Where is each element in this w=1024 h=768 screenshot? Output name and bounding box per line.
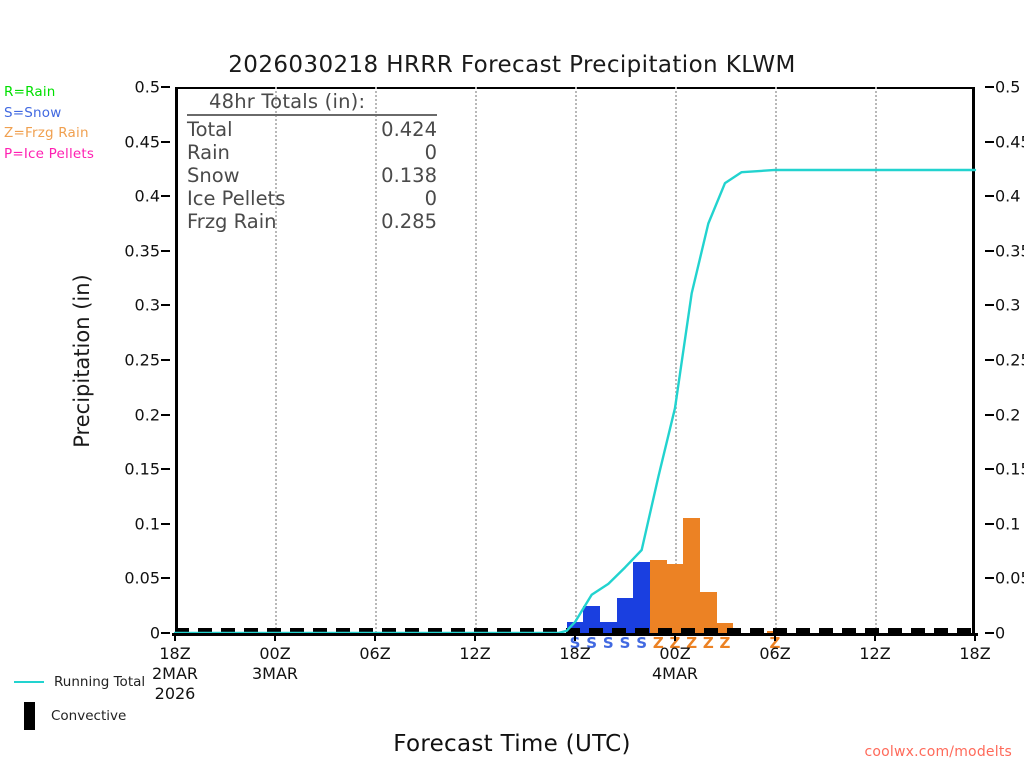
watermark: coolwx.com/modelts (0, 744, 1012, 760)
totals-row-label: Frzg Rain (187, 210, 276, 233)
totals-row-value: 0 (425, 187, 437, 210)
y-tick-left-mark (161, 304, 170, 306)
y-tick-right-mark (985, 304, 994, 306)
totals-row-value: 0.285 (381, 210, 437, 233)
totals-rows: Total0.424Rain0Snow0.138Ice Pellets0Frzg… (187, 118, 437, 233)
x-tick-time: 12Z (859, 644, 890, 663)
y-tick-left-label: 0.5 (135, 78, 160, 97)
y-tick-right-mark (985, 632, 994, 634)
y-tick-left-label: 0.25 (124, 351, 160, 370)
x-tick-label: 00Z4MAR (652, 644, 698, 684)
x-tick-label: 06Z (359, 644, 390, 664)
y-tick-right-label: 0.05 (995, 569, 1024, 588)
y-tick-left-label: 0.35 (124, 241, 160, 260)
chart-title: 2026030218 HRRR Forecast Precipitation K… (0, 52, 1024, 78)
y-tick-right-label: 0.3 (995, 296, 1020, 315)
x-tick-time: 00Z (659, 644, 690, 663)
y-tick-left-label: 0.15 (124, 460, 160, 479)
y-axis-right: 00.050.10.150.20.250.30.350.40.450.5 (985, 87, 1024, 633)
y-tick-right-label: 0.45 (995, 132, 1024, 151)
totals-row-label: Snow (187, 164, 240, 187)
x-axis-ticks: 18Z2MAR202600Z3MAR06Z12Z18Z00Z4MAR06Z12Z… (175, 633, 975, 733)
legend-snow: S=Snow (4, 103, 94, 124)
totals-row-label: Total (187, 118, 233, 141)
y-tick-left-label: 0.4 (135, 187, 160, 206)
legend-rain: R=Rain (4, 82, 94, 103)
x-tick-mark (474, 633, 476, 641)
y-tick-right-mark (985, 86, 994, 88)
y-tick-right-mark (985, 577, 994, 579)
y-tick-right-label: 0.4 (995, 187, 1020, 206)
y-tick-right-mark (985, 468, 994, 470)
totals-row-label: Rain (187, 141, 230, 164)
y-tick-left-label: 0.05 (124, 569, 160, 588)
y-tick-right-label: 0.35 (995, 241, 1024, 260)
totals-row: Frzg Rain0.285 (187, 210, 437, 233)
precip-type-legend: R=Rain S=Snow Z=Frzg Rain P=Ice Pellets (4, 82, 94, 164)
legend-ice-pellets: P=Ice Pellets (4, 144, 94, 165)
x-tick-label: 00Z3MAR (252, 644, 298, 684)
chart-canvas: 2026030218 HRRR Forecast Precipitation K… (0, 0, 1024, 768)
x-tick-mark (374, 633, 376, 641)
y-tick-left-mark (161, 523, 170, 525)
legend-convective-label: Convective (51, 708, 126, 724)
y-tick-right-label: 0.1 (995, 514, 1020, 533)
x-tick-time: 18Z (959, 644, 990, 663)
legend-convective: Convective (10, 699, 180, 733)
y-tick-left-mark (161, 414, 170, 416)
totals-panel: 48hr Totals (in): Total0.424Rain0Snow0.1… (187, 90, 437, 233)
x-tick-date: 3MAR (252, 664, 298, 684)
y-tick-right-label: 0.5 (995, 78, 1020, 97)
x-tick-time: 12Z (459, 644, 490, 663)
x-tick-time: 00Z (259, 644, 290, 663)
running-total-line-icon (14, 681, 44, 683)
convective-bar-icon (24, 702, 35, 730)
totals-row-value: 0 (425, 141, 437, 164)
x-tick-mark (874, 633, 876, 641)
x-tick-mark (974, 633, 976, 641)
y-tick-left-label: 0 (150, 624, 160, 643)
x-tick-mark (574, 633, 576, 641)
y-tick-left-mark (161, 577, 170, 579)
x-tick-label: 12Z (459, 644, 490, 664)
y-tick-left-mark (161, 468, 170, 470)
x-tick-time: 18Z (559, 644, 590, 663)
totals-row: Rain0 (187, 141, 437, 164)
y-tick-left-mark (161, 632, 170, 634)
y-tick-right-mark (985, 523, 994, 525)
totals-header: 48hr Totals (in): (187, 90, 437, 116)
y-tick-right-mark (985, 250, 994, 252)
x-tick-mark (774, 633, 776, 641)
y-tick-right-mark (985, 141, 994, 143)
y-tick-right-label: 0.15 (995, 460, 1024, 479)
series-legend: Running Total Convective (10, 665, 180, 733)
y-tick-right-mark (985, 359, 994, 361)
x-tick-mark (274, 633, 276, 641)
y-tick-left-mark (161, 195, 170, 197)
y-axis-label: Precipitation (in) (70, 241, 94, 481)
x-tick-label: 18Z (559, 644, 590, 664)
y-tick-left-label: 0.45 (124, 132, 160, 151)
x-tick-mark (674, 633, 676, 641)
y-axis-left: 00.050.10.150.20.250.30.350.40.450.5 (110, 87, 170, 633)
y-tick-left-mark (161, 141, 170, 143)
x-tick-time: 06Z (359, 644, 390, 663)
y-tick-left-label: 0.2 (135, 405, 160, 424)
legend-running-total: Running Total (10, 665, 180, 699)
y-tick-left-label: 0.1 (135, 514, 160, 533)
y-tick-left-mark (161, 359, 170, 361)
x-tick-label: 06Z (759, 644, 790, 664)
y-tick-left-label: 0.3 (135, 296, 160, 315)
y-tick-right-mark (985, 195, 994, 197)
totals-row-value: 0.138 (381, 164, 437, 187)
legend-freezing-rain: Z=Frzg Rain (4, 123, 94, 144)
x-tick-label: 18Z (959, 644, 990, 664)
x-tick-label: 12Z (859, 644, 890, 664)
x-tick-date: 4MAR (652, 664, 698, 684)
y-tick-right-mark (985, 414, 994, 416)
y-tick-left-mark (161, 250, 170, 252)
totals-row-value: 0.424 (381, 118, 437, 141)
legend-running-total-label: Running Total (54, 674, 145, 690)
y-tick-left-mark (161, 86, 170, 88)
totals-row: Total0.424 (187, 118, 437, 141)
totals-row: Snow0.138 (187, 164, 437, 187)
totals-row: Ice Pellets0 (187, 187, 437, 210)
x-tick-time: 06Z (759, 644, 790, 663)
totals-row-label: Ice Pellets (187, 187, 285, 210)
y-tick-right-label: 0 (995, 624, 1005, 643)
x-tick-mark (174, 633, 176, 641)
y-tick-right-label: 0.2 (995, 405, 1020, 424)
y-tick-right-label: 0.25 (995, 351, 1024, 370)
x-tick-time: 18Z (159, 644, 190, 663)
